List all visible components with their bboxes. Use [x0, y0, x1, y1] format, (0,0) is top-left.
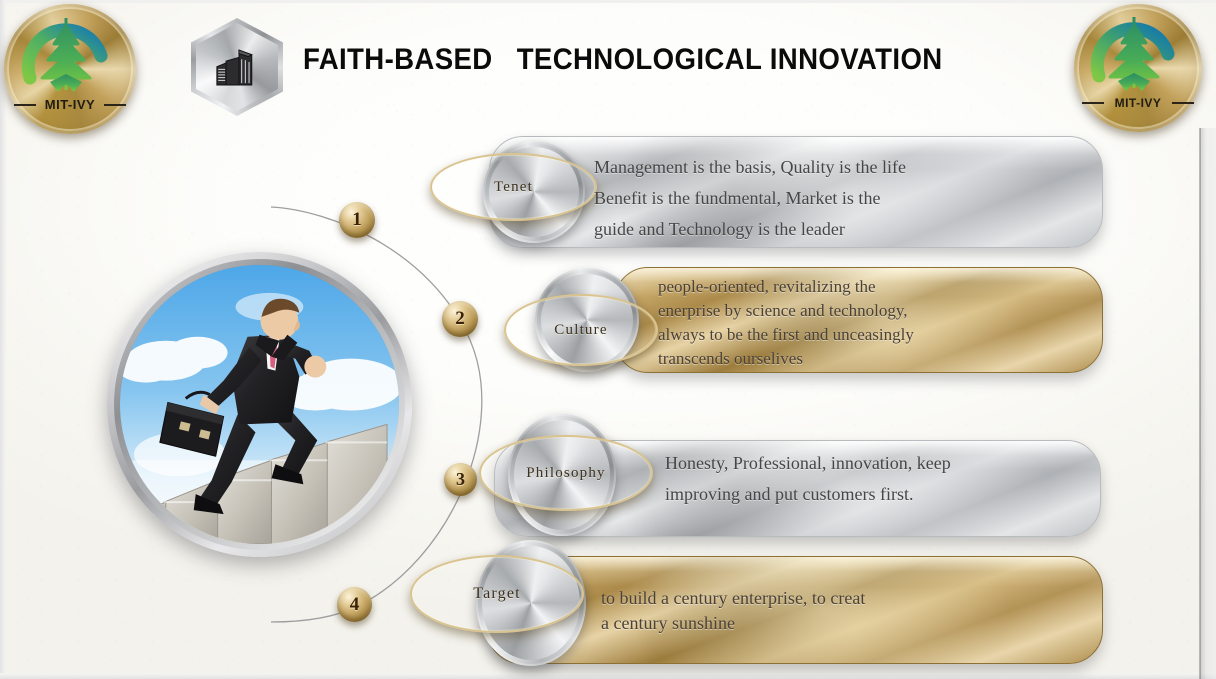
building-hex-badge: [191, 18, 283, 116]
edge-top: [0, 0, 1216, 3]
row-ellipse-4[interactable]: Target: [410, 555, 584, 633]
center-photo-circle: [107, 252, 412, 557]
logo-wordmark: MIT-IVY: [1074, 96, 1202, 110]
step-number-4[interactable]: 4: [337, 587, 372, 622]
logo-wordmark: MIT-IVY: [4, 97, 136, 112]
row-text-1: Management is the basis, Quality is the …: [594, 152, 1064, 245]
step-number-2[interactable]: 2: [442, 301, 478, 337]
page-title: FAITH-BASED TECHNOLOGICAL INNOVATION: [303, 43, 943, 77]
row-ellipse-1[interactable]: Tenet: [430, 153, 597, 221]
row-ellipse-3[interactable]: Philosophy: [479, 435, 653, 511]
right-edge-line: [1199, 128, 1201, 679]
step-number-3[interactable]: 3: [444, 463, 477, 496]
row-text-4: to build a century enterprise, to creat …: [601, 586, 1041, 636]
slide-canvas: MIT-IVY FAITH-BASED TECHNOLOGICAL INNOVA…: [0, 0, 1216, 679]
row-text-3: Honesty, Professional, innovation, keep …: [665, 448, 1105, 510]
row-ellipse-2[interactable]: Culture: [504, 294, 658, 366]
row-text-2: people-oriented, revitalizing the enerpr…: [658, 275, 1078, 371]
step-number-1[interactable]: 1: [339, 202, 375, 238]
pine-tree-swoosh-icon: [1074, 4, 1202, 132]
building-icon: [215, 45, 259, 90]
edge-bottom: [0, 673, 1216, 679]
pine-tree-swoosh-icon: [4, 4, 136, 134]
row-label-1: Tenet: [494, 179, 533, 196]
row-label-4: Target: [473, 585, 521, 603]
row-label-3: Philosophy: [526, 465, 606, 482]
mit-ivy-logo-left: MIT-IVY: [4, 4, 136, 134]
right-edge-strip: [1200, 128, 1216, 679]
businessman-stairs-photo: [120, 265, 399, 544]
row-label-2: Culture: [554, 322, 607, 339]
mit-ivy-logo-right: MIT-IVY: [1074, 4, 1202, 132]
